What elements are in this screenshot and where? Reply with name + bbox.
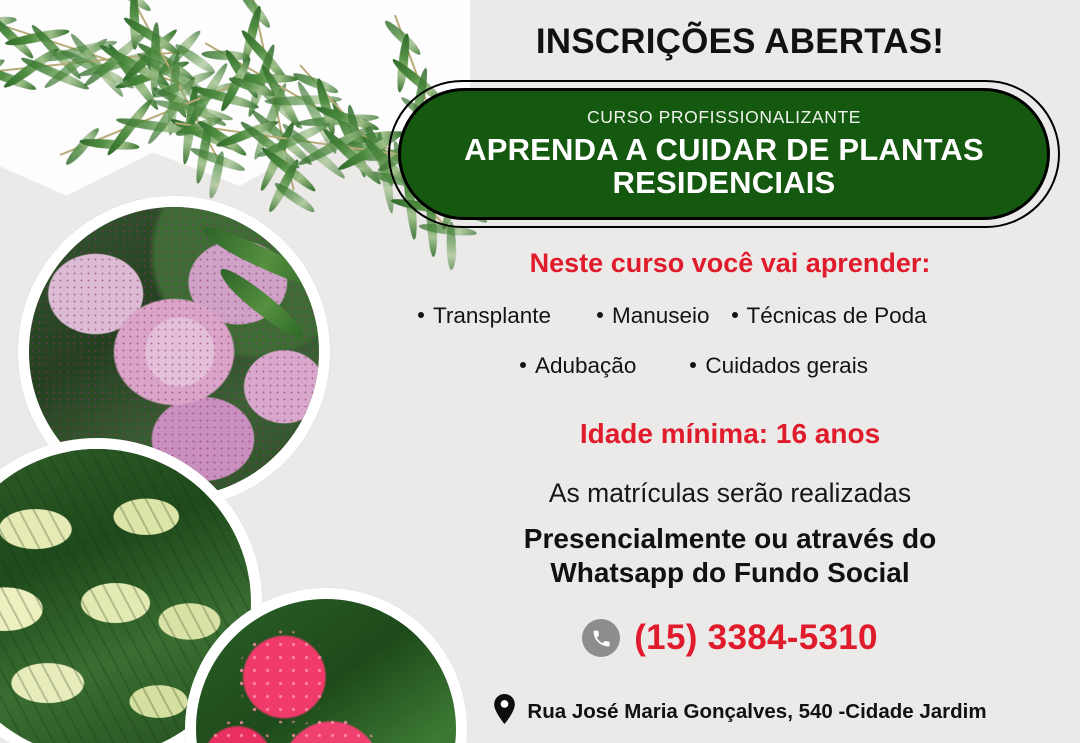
phone-icon (582, 619, 620, 657)
topics-row-1: TransplanteManuseioTécnicas de Poda (400, 303, 1080, 329)
flyer-content: INSCRIÇÕES ABERTAS! CURSO PROFISSIONALIZ… (400, 0, 1080, 743)
bullet-dot-icon (418, 312, 424, 318)
topic-label: Adubação (535, 353, 636, 379)
banner-eyebrow: CURSO PROFISSIONALIZANTE (587, 107, 861, 128)
enrollment-method-line-2: Whatsapp do Fundo Social (400, 556, 1060, 590)
topic-2: Manuseio (597, 303, 710, 329)
bullet-dot-icon (520, 362, 526, 368)
learn-heading: Neste curso você vai aprender: (400, 248, 1060, 279)
banner-title: APRENDA A CUIDAR DE PLANTAS RESIDENCIAIS (431, 133, 1017, 199)
topics-row-2: AdubaçãoCuidados gerais (400, 353, 1080, 379)
bullet-dot-icon (732, 312, 738, 318)
age-requirement: Idade mínima: 16 anos (400, 418, 1060, 450)
topic-1: Transplante (418, 303, 551, 329)
flower-petal-texture (196, 599, 456, 743)
address-text: Rua José Maria Gonçalves, 540 -Cidade Ja… (527, 700, 986, 724)
phone-contact[interactable]: (15) 3384-5310 (400, 618, 1060, 658)
topic-2: Cuidados gerais (690, 353, 868, 379)
topic-label: Manuseio (612, 303, 710, 329)
map-pin-icon (493, 694, 516, 729)
topic-1: Adubação (520, 353, 636, 379)
topic-label: Cuidados gerais (705, 353, 868, 379)
address-contact: Rua José Maria Gonçalves, 540 -Cidade Ja… (400, 694, 1080, 729)
course-banner: CURSO PROFISSIONALIZANTE APRENDA A CUIDA… (398, 88, 1050, 220)
page-title: INSCRIÇÕES ABERTAS! (400, 22, 1080, 62)
enrollment-intro: As matrículas serão realizadas (400, 478, 1060, 509)
flowers-photo-image (196, 599, 456, 743)
topic-3: Técnicas de Poda (732, 303, 927, 329)
bullet-dot-icon (597, 312, 603, 318)
enrollment-method-line-1: Presencialmente ou através do (400, 522, 1060, 556)
topic-label: Técnicas de Poda (747, 303, 927, 329)
flyer-poster: INSCRIÇÕES ABERTAS! CURSO PROFISSIONALIZ… (0, 0, 1080, 743)
enrollment-method: Presencialmente ou através do Whatsapp d… (400, 522, 1060, 590)
bullet-dot-icon (690, 362, 696, 368)
flowers-photo (185, 588, 467, 743)
topic-label: Transplante (433, 303, 551, 329)
phone-number[interactable]: (15) 3384-5310 (634, 618, 878, 658)
